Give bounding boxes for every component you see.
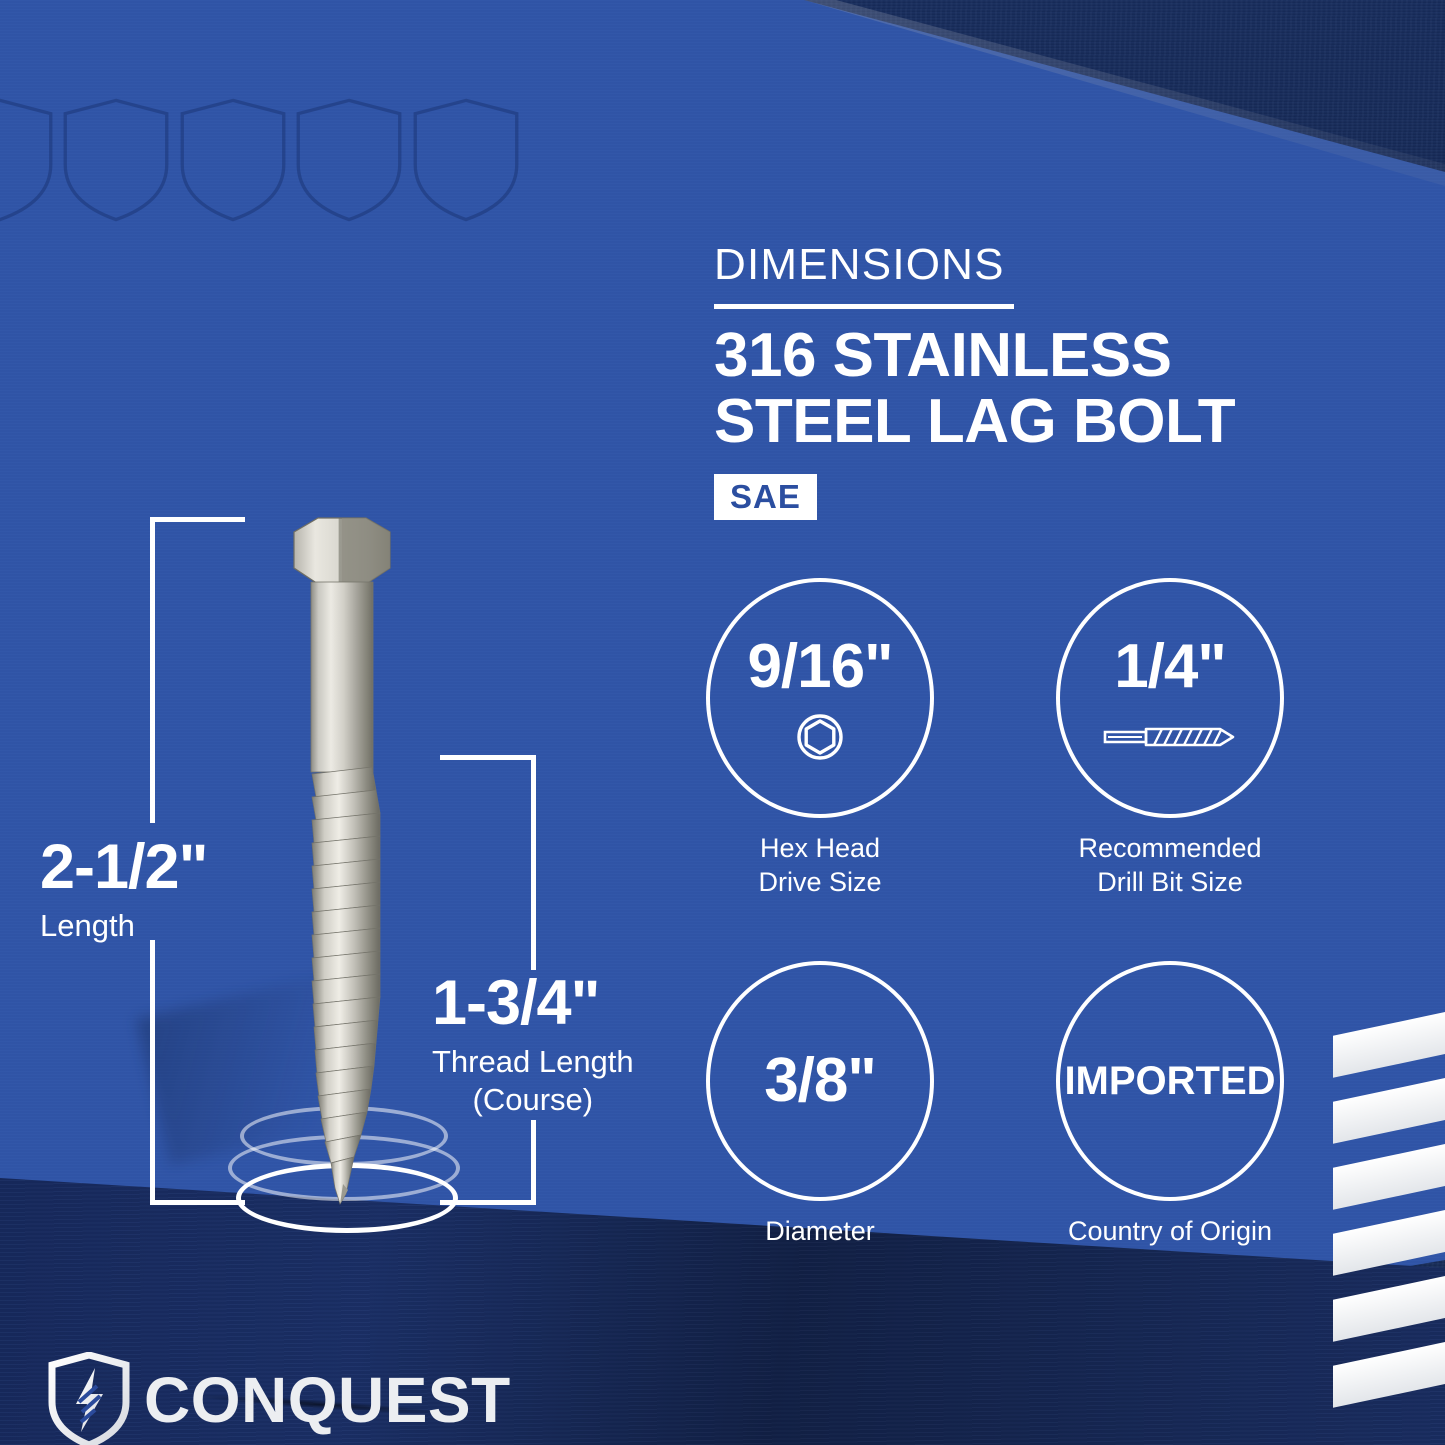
spec-badge-recommended-drill-bit-size: 1/4" Reco: [1050, 578, 1290, 899]
accent-stripe: [1333, 1342, 1445, 1408]
thread-length-caption: Thread Length: [432, 1044, 634, 1080]
title-line-2: STEEL LAG BOLT: [714, 389, 1314, 455]
accent-stripe: [1333, 1012, 1445, 1078]
accent-stripe: [1333, 1276, 1445, 1342]
accent-stripes: [1335, 1012, 1445, 1412]
spec-badge-row: 3/8" Diameter IMPORTED Country of Origin: [700, 961, 1320, 1247]
hex-socket-icon: [795, 714, 845, 760]
infographic-canvas: 2-1/2" Length 1-3/4" Thread Length (Cour…: [0, 0, 1445, 1445]
spec-caption-line-1: Country of Origin: [1050, 1215, 1290, 1247]
thread-length-value: 1-3/4": [432, 972, 634, 1035]
lag-bolt-image: [272, 512, 412, 1212]
spec-caption-line-1: Hex Head: [700, 832, 940, 864]
standard-badge: SAE: [714, 474, 817, 520]
spec-value: IMPORTED: [1064, 1061, 1275, 1101]
spec-caption-line-2: Drill Bit Size: [1050, 866, 1290, 898]
spec-badge-grid: 9/16" Hex Head Drive Size 1/4": [700, 578, 1320, 1275]
thread-length-subcaption: (Course): [432, 1082, 634, 1118]
accent-stripe: [1333, 1144, 1445, 1210]
product-diagram: 2-1/2" Length 1-3/4" Thread Length (Cour…: [0, 0, 700, 1445]
length-dimension-label: 2-1/2" Length: [40, 836, 207, 944]
header-rule: [714, 304, 1014, 309]
accent-stripe: [1333, 1210, 1445, 1276]
badge-circle: 9/16": [706, 578, 934, 818]
badge-circle: 3/8": [706, 961, 934, 1201]
shield-bolt-icon: [48, 1352, 130, 1445]
page-title: 316 STAINLESS STEEL LAG BOLT: [714, 323, 1314, 454]
spec-badge-diameter: 3/8" Diameter: [700, 961, 940, 1247]
brand-name: CONQUEST: [144, 1368, 511, 1432]
length-value: 2-1/2": [40, 836, 207, 899]
badge-circle: 1/4": [1056, 578, 1284, 818]
spec-badge-hex-head-drive-size: 9/16" Hex Head Drive Size: [700, 578, 940, 899]
drill-bit-icon: [1102, 714, 1238, 760]
brand-logo: CONQUEST: [48, 1352, 511, 1445]
title-line-1: 316 STAINLESS: [714, 323, 1314, 389]
thread-length-dimension-label: 1-3/4" Thread Length (Course): [432, 972, 634, 1117]
accent-stripe: [1333, 1078, 1445, 1144]
spec-value: 9/16": [747, 636, 892, 698]
spec-badge-row: 9/16" Hex Head Drive Size 1/4": [700, 578, 1320, 899]
spec-value: 1/4": [1114, 636, 1226, 698]
badge-circle: IMPORTED: [1056, 961, 1284, 1201]
header-block: DIMENSIONS 316 STAINLESS STEEL LAG BOLT …: [714, 243, 1314, 520]
spec-caption-line-2: Drive Size: [700, 866, 940, 898]
spec-caption-line-1: Diameter: [700, 1215, 940, 1247]
length-caption: Length: [40, 908, 207, 944]
spec-value: 3/8": [764, 1050, 876, 1112]
eyebrow-label: DIMENSIONS: [714, 243, 1314, 287]
spec-caption-line-1: Recommended: [1050, 832, 1290, 864]
spec-badge-country-of-origin: IMPORTED Country of Origin: [1050, 961, 1290, 1247]
